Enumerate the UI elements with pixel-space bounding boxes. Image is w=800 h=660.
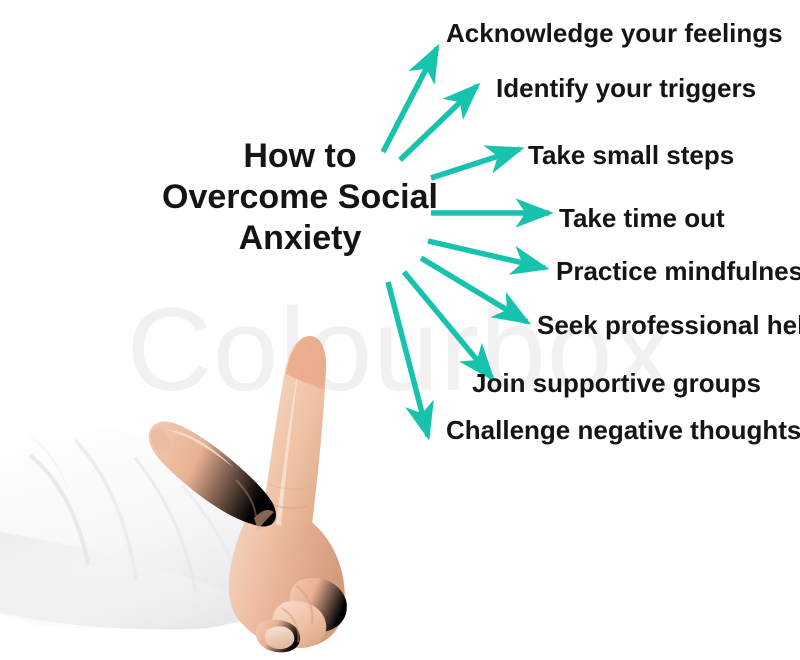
arrow-7 [388,282,428,436]
diagram-center-title: How to Overcome Social Anxiety [160,136,440,259]
diagram-label-practice-mindfulness[interactable]: Practice mindfulness [556,256,800,286]
diagram-label-join-supportive-groups[interactable]: Join supportive groups [472,368,761,398]
diagram-label-identify-your-triggers[interactable]: Identify your triggers [496,73,756,103]
diagram-label-acknowledge-your-feelings[interactable]: Acknowledge your feelings [446,18,783,48]
arrow-4 [428,241,545,268]
diagram-label-take-time-out[interactable]: Take time out [559,203,725,233]
diagram-label-seek-professional-help[interactable]: Seek professional help [537,310,800,340]
arrow-6 [404,272,492,378]
arrow-2 [431,149,520,178]
diagram-label-challenge-negative-thoughts[interactable]: Challenge negative thoughts [446,415,800,445]
pointing-hand-photo [0,280,400,660]
infographic-canvas: Colourbox [0,0,800,660]
diagram-label-take-small-steps[interactable]: Take small steps [528,140,734,170]
arrow-5 [421,258,527,322]
